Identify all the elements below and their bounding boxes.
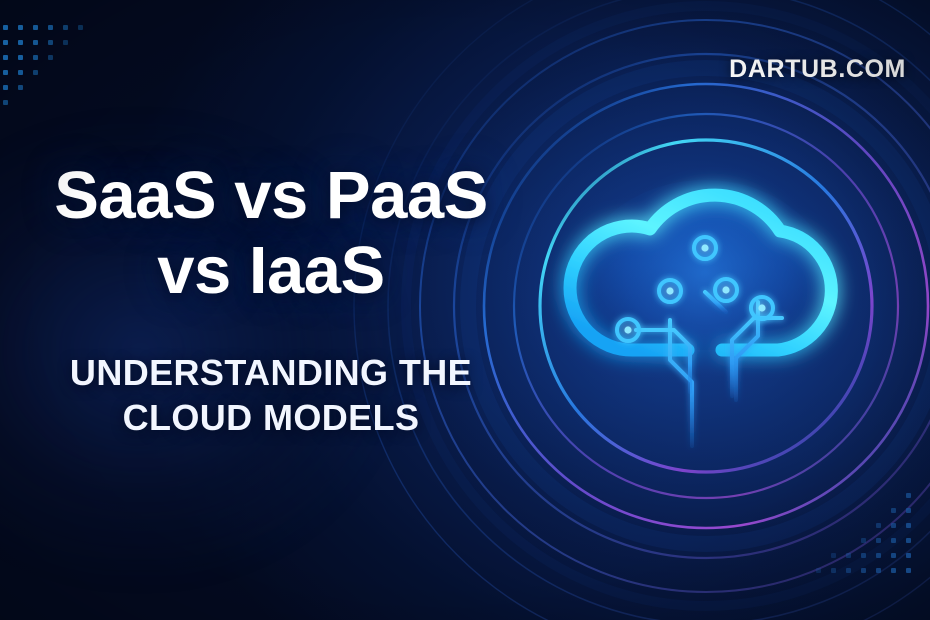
dot-matrix-bottom-right — [796, 490, 916, 600]
page-title-line-2: vs IaaS — [26, 233, 516, 308]
page-title-line-1: SaaS vs PaaS — [26, 158, 516, 233]
poster-canvas: DARTUB.COM SaaS vs PaaS vs IaaS UNDERSTA… — [0, 0, 930, 620]
page-subtitle-line-2: CLOUD MODELS — [26, 395, 516, 440]
page-title: SaaS vs PaaS vs IaaS — [26, 158, 516, 308]
dot-matrix-top-left — [0, 20, 120, 130]
page-subtitle-line-1: UNDERSTANDING THE — [26, 350, 516, 395]
cloud-circuit-icon — [540, 160, 870, 450]
page-subtitle: UNDERSTANDING THE CLOUD MODELS — [26, 350, 516, 441]
site-watermark: DARTUB.COM — [729, 55, 906, 84]
